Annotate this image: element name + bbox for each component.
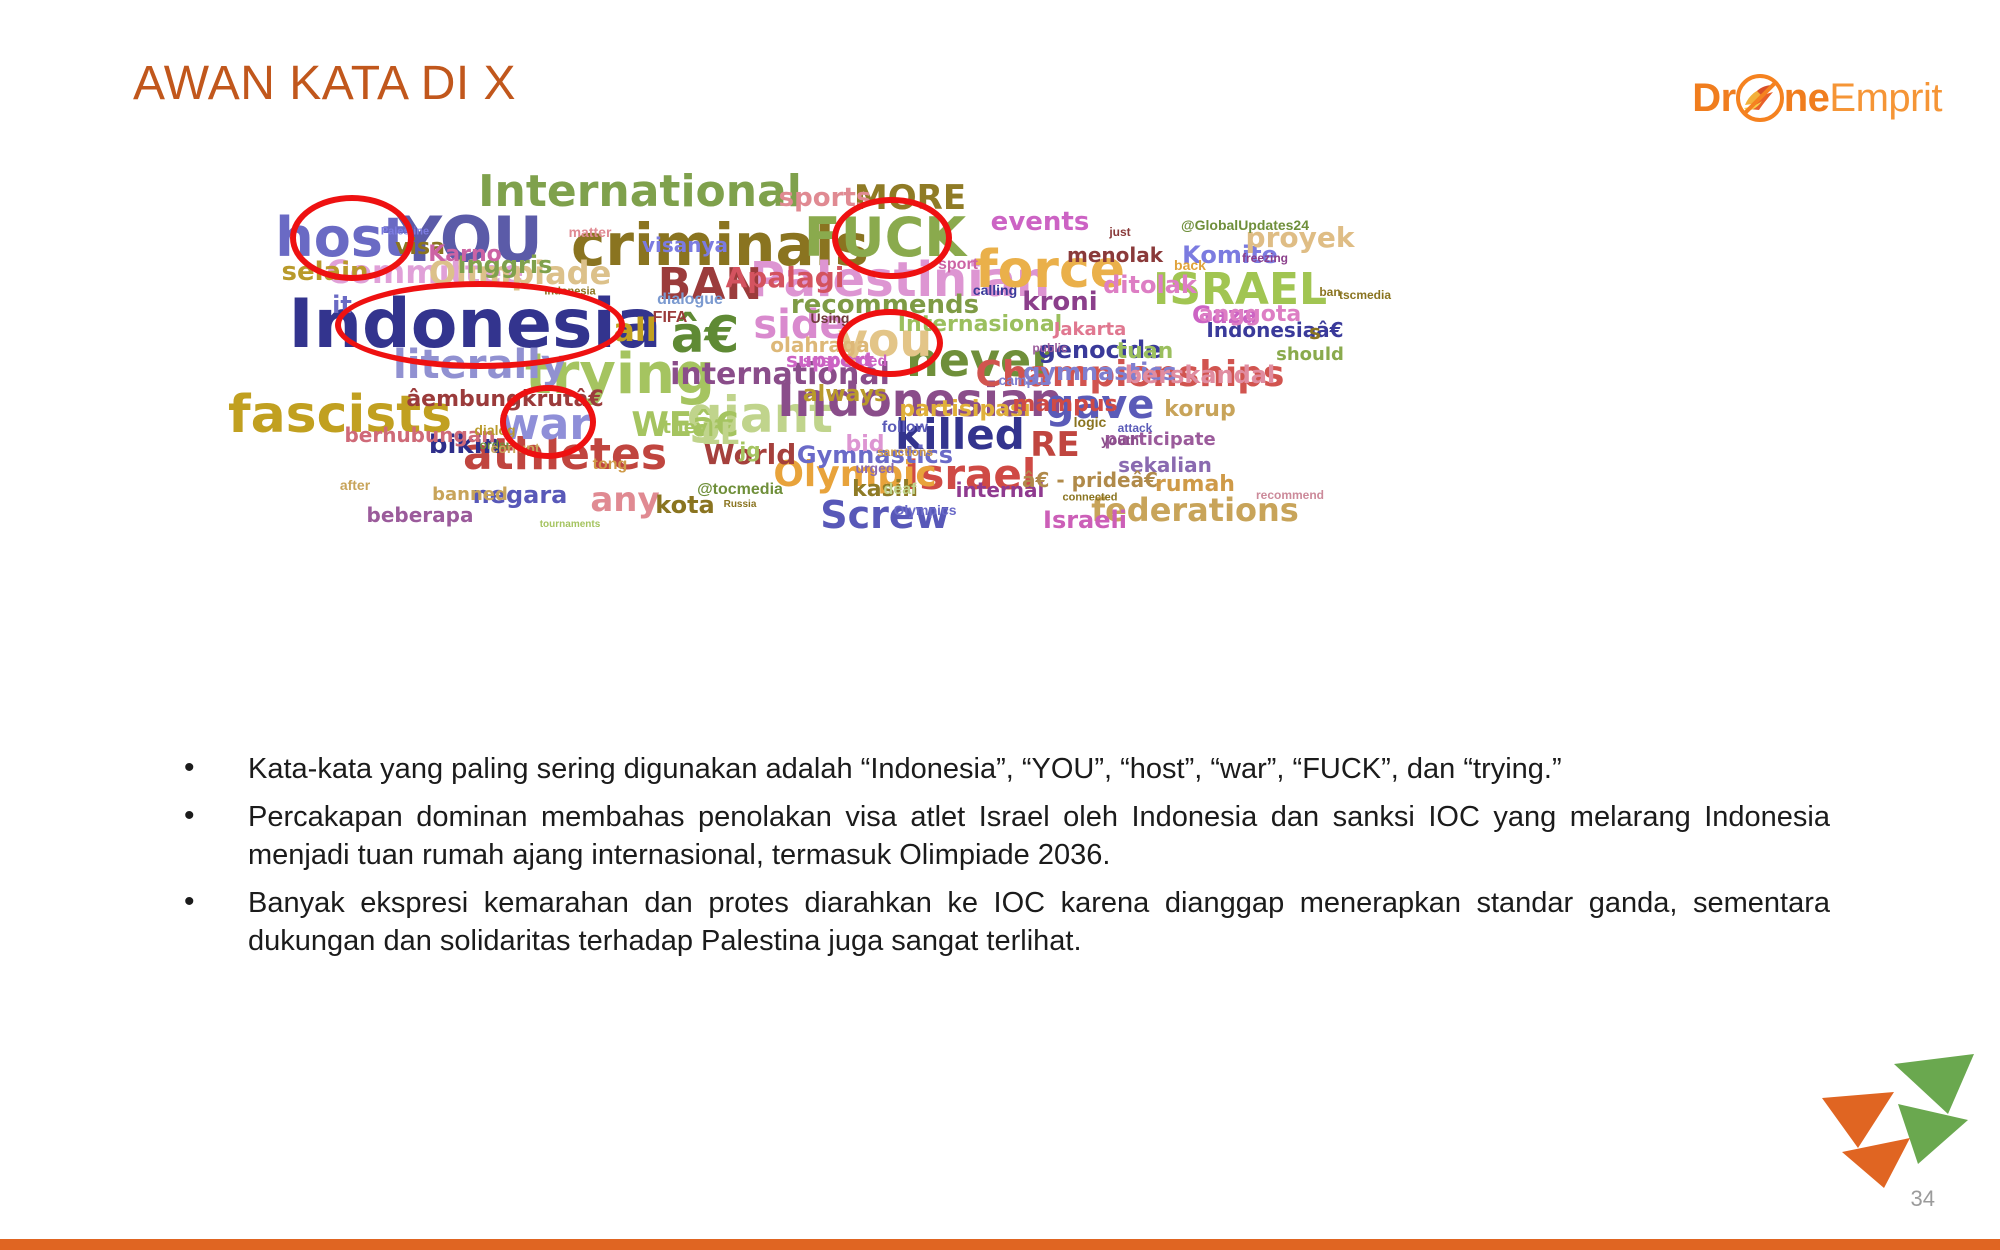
word-cloud-term: tournaments bbox=[540, 520, 601, 530]
word-cloud-term: follow bbox=[882, 420, 928, 436]
word-cloud-term: youth bbox=[1101, 433, 1139, 447]
word-cloud-term: ditolak bbox=[1103, 273, 1197, 297]
word-cloud-term: they bbox=[662, 419, 707, 437]
word-cloud-term: campus bbox=[999, 373, 1052, 387]
word-cloud-term: sanctions bbox=[877, 446, 933, 458]
word-cloud-term: sports bbox=[779, 185, 872, 211]
bottom-rule bbox=[0, 1239, 2000, 1250]
word-cloud-term: rumah bbox=[1155, 474, 1235, 496]
word-cloud-term: logic bbox=[1074, 415, 1107, 429]
brand-logo-part2: ne bbox=[1784, 78, 1830, 118]
word-cloud-term: FIFA bbox=[653, 310, 688, 326]
word-cloud-term: Israeli bbox=[1043, 508, 1127, 532]
word-cloud-term: selain bbox=[282, 259, 369, 285]
word-cloud-term: dialogue bbox=[657, 292, 723, 308]
word-cloud-term: events bbox=[991, 209, 1090, 235]
word-cloud-term: Palestine bbox=[381, 227, 429, 238]
word-cloud-term: it bbox=[332, 293, 352, 317]
word-cloud: IndonesiaYOUhostcriminalsInternationalPa… bbox=[300, 160, 1700, 560]
word-cloud-term: jg bbox=[739, 440, 760, 460]
word-cloud-term: connected bbox=[1062, 493, 1117, 504]
word-cloud-term: deaf bbox=[884, 482, 917, 498]
word-cloud-term: @tocmedia bbox=[697, 482, 783, 498]
word-cloud-term: s bbox=[1309, 322, 1321, 342]
word-cloud-term: suspended bbox=[803, 354, 887, 370]
word-cloud-term: always bbox=[803, 384, 887, 406]
word-cloud-term: Karno bbox=[428, 244, 502, 266]
word-cloud-term: Indonesia bbox=[544, 287, 595, 298]
word-cloud-term: should bbox=[1276, 346, 1344, 364]
word-cloud-term: visanya bbox=[642, 235, 728, 255]
word-cloud-term: korup bbox=[1164, 399, 1235, 421]
word-cloud-term: partisipasi bbox=[899, 399, 1030, 421]
word-cloud-term: tuan bbox=[1117, 341, 1174, 363]
word-cloud-term: Russia bbox=[724, 500, 757, 510]
word-cloud-term: all bbox=[613, 314, 657, 346]
word-cloud-term: literally bbox=[393, 345, 567, 385]
word-cloud-term: International bbox=[478, 170, 802, 214]
word-cloud-term: dialog bbox=[474, 423, 515, 437]
word-cloud-term: RE bbox=[1030, 428, 1079, 462]
word-cloud-term: tong bbox=[593, 457, 628, 473]
word-cloud-term: menolak bbox=[1067, 245, 1163, 265]
brand-logo-part1: Dr bbox=[1692, 78, 1735, 118]
word-cloud-term: urged bbox=[856, 461, 895, 475]
word-cloud-term: anggota bbox=[1199, 304, 1301, 326]
bullet-item: Percakapan dominan membahas penolakan vi… bbox=[170, 798, 1830, 875]
word-cloud-term: just bbox=[1109, 226, 1130, 238]
word-cloud-term: @GlobalUpdates24 bbox=[1181, 218, 1309, 232]
word-cloud-term: freezing bbox=[1242, 252, 1288, 264]
word-cloud-term: any bbox=[590, 483, 659, 517]
word-cloud-term: matter bbox=[569, 225, 612, 239]
word-cloud-term: sport bbox=[938, 257, 978, 273]
word-cloud-term: back bbox=[1174, 258, 1206, 272]
word-cloud-term: Apalagi bbox=[726, 264, 845, 292]
word-cloud-term: recommend bbox=[1256, 489, 1324, 501]
word-cloud-term: calling bbox=[973, 283, 1017, 297]
drone-prohibited-bird-icon bbox=[1734, 72, 1786, 124]
page-title: AWAN KATA DI X bbox=[133, 56, 516, 111]
word-cloud-term: mampus bbox=[1012, 394, 1117, 416]
word-cloud-term: beberapa bbox=[367, 505, 474, 525]
bullet-item: Banyak ekspresi kemarahan dan protes dia… bbox=[170, 884, 1830, 961]
bullet-item: Kata-kata yang paling sering digunakan a… bbox=[170, 750, 1830, 789]
word-cloud-term: berhubungan bbox=[344, 425, 495, 445]
word-cloud-term: banned bbox=[432, 486, 508, 504]
brand-logo: Dr ne Emprit bbox=[1692, 70, 1942, 126]
brand-logo-part3: Emprit bbox=[1829, 78, 1942, 118]
bullet-list: Kata-kata yang paling sering digunakan a… bbox=[170, 750, 1830, 970]
word-cloud-term: after bbox=[340, 478, 370, 492]
word-cloud-term: tscmedia bbox=[1339, 289, 1391, 301]
word-cloud-term: Using bbox=[811, 311, 850, 325]
word-cloud-term: ban bbox=[1319, 286, 1340, 298]
word-cloud-term: public bbox=[1032, 342, 1067, 354]
word-cloud-term: â€ - prideâ€ bbox=[1022, 470, 1158, 490]
word-cloud-term: Internasional bbox=[898, 314, 1062, 336]
word-cloud-term: âembungkrutâ€ bbox=[406, 389, 603, 411]
word-cloud-term: corrupt bbox=[491, 441, 540, 455]
word-cloud-term: berskandal bbox=[1125, 363, 1275, 387]
slide: AWAN KATA DI X Dr ne Emprit IndonesiaYOU… bbox=[0, 0, 2000, 1250]
word-cloud-term: Jakarta bbox=[1054, 321, 1127, 339]
word-cloud-term: Olympics bbox=[893, 503, 956, 517]
corner-decoration bbox=[1798, 1052, 1978, 1192]
